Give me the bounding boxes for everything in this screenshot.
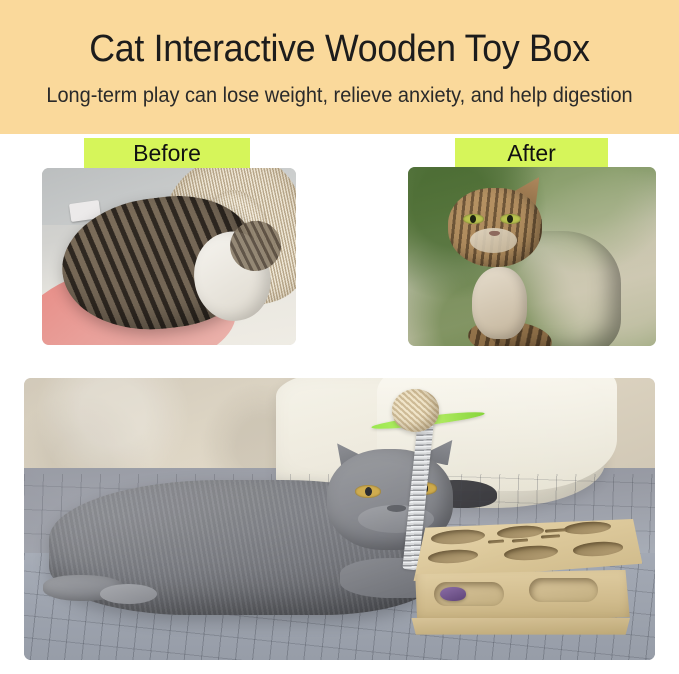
badge-after-label: After (507, 140, 556, 167)
sisal-ball (392, 389, 439, 431)
hero-grey-cat-pupil-left (365, 487, 372, 496)
before-photo (42, 168, 296, 345)
toy-box-window (529, 578, 598, 602)
after-photo (408, 167, 656, 346)
page-title: Cat Interactive Wooden Toy Box (20, 26, 658, 72)
header-banner: Cat Interactive Wooden Toy Box Long-term… (0, 0, 679, 134)
badge-after: After (455, 138, 608, 169)
hero-photo (24, 378, 655, 660)
badge-before-label: Before (133, 140, 201, 167)
after-cat-chest (472, 267, 527, 339)
page-subtitle: Long-term play can lose weight, relieve … (17, 82, 662, 110)
product-listing-image: Cat Interactive Wooden Toy Box Long-term… (0, 0, 679, 674)
hero-grey-cat-paw-second (100, 584, 157, 604)
toy-box-base (411, 618, 632, 635)
purple-mouse-toy (440, 587, 465, 601)
badge-before: Before (84, 138, 250, 169)
